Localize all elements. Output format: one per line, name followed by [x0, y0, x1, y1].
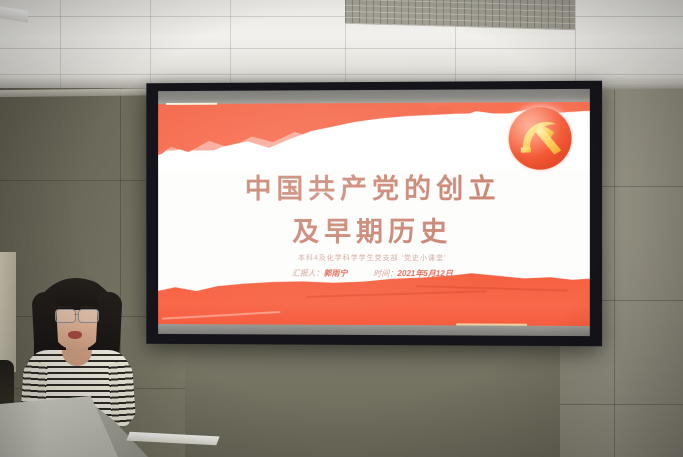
projector-bottom-bar	[158, 324, 590, 336]
glasses-lens-right	[78, 309, 99, 323]
date-value: 2021年5月12日	[397, 269, 452, 278]
ceiling	[0, 0, 683, 92]
projection-screen-surface[interactable]: 中国共产党的创立 及早期历史 本科4及化学科学学生党支部 '党史小课堂' 汇报人…	[158, 89, 590, 336]
glasses-bridge	[74, 314, 79, 315]
presenter-mouth	[68, 331, 82, 339]
projector-top-bar	[158, 89, 590, 104]
classroom-presentation-photo: 中国共产党的创立 及早期历史 本科4及化学科学学生党支部 '党史小课堂' 汇报人…	[0, 0, 683, 457]
slide-text-block: 中国共产党的创立 及早期历史 本科4及化学科学学生党支部 '党史小课堂' 汇报人…	[158, 89, 590, 336]
ceiling-light	[0, 5, 28, 22]
projection-screen-frame: 中国共产党的创立 及早期历史 本科4及化学科学学生党支部 '党史小课堂' 汇报人…	[146, 81, 602, 347]
projector-bottom-highlight	[456, 323, 527, 325]
projector-top-highlight	[166, 103, 217, 105]
presenter-name: 郭雨宁	[324, 269, 348, 278]
presenter-arm-right	[108, 361, 136, 425]
presenter-eyebrow-left	[57, 306, 72, 308]
date-label: 时间：	[373, 269, 397, 278]
presenter-eyebrow-right	[80, 306, 95, 308]
ceiling-air-vent-grille	[345, 0, 575, 29]
slide-title-line-2: 及早期历史	[158, 210, 590, 249]
slide-title-line-1: 中国共产党的创立	[158, 167, 590, 207]
presenter-label: 汇报人：	[292, 269, 324, 278]
slide-subtitle: 本科4及化学科学学生党支部 '党史小课堂'	[158, 253, 590, 264]
presentation-slide: 中国共产党的创立 及早期历史 本科4及化学科学学生党支部 '党史小课堂' 汇报人…	[158, 89, 590, 336]
glasses-lens-left	[55, 309, 76, 323]
slide-byline: 汇报人：郭雨宁时间：2021年5月12日	[158, 268, 590, 280]
